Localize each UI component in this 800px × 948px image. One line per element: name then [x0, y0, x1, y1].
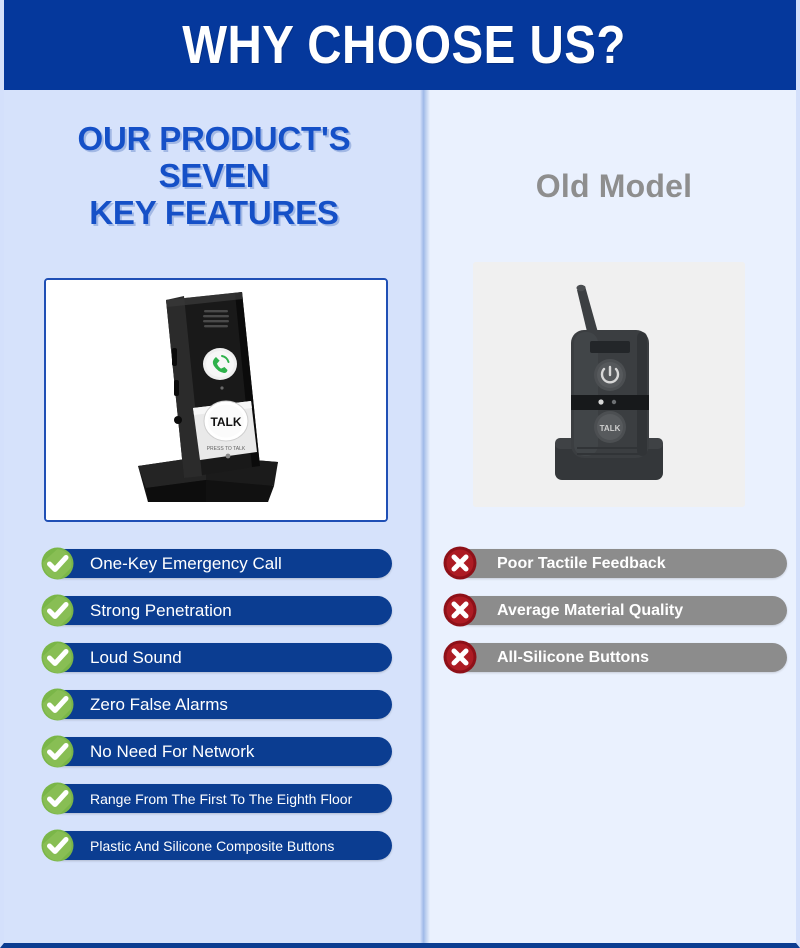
left-panel-heading: OUR PRODUCT'S SEVEN KEY FEATURES [4, 120, 424, 231]
handset-body: TALK [571, 330, 649, 458]
feature-label: Plastic And Silicone Composite Buttons [90, 839, 334, 853]
svg-text:TALK: TALK [600, 424, 621, 433]
cross-circle-icon [440, 590, 480, 630]
check-circle-icon [38, 826, 77, 865]
feature-row[interactable]: Range From The First To The Eighth Floor [4, 780, 424, 827]
drawback-pill[interactable]: Poor Tactile Feedback [451, 549, 787, 578]
feature-label: One-Key Emergency Call [90, 555, 282, 572]
feature-row[interactable]: Loud Sound [4, 639, 424, 686]
feature-pill[interactable]: Range From The First To The Eighth Floor [48, 784, 392, 813]
panel-divider [420, 90, 430, 943]
talk-button: TALK [594, 411, 626, 443]
comparison-panels: OUR PRODUCT'S SEVEN KEY FEATURES [4, 90, 800, 943]
drawback-list: Poor Tactile Feedback Average Material Q… [424, 545, 800, 686]
drawback-row[interactable]: Average Material Quality [424, 592, 800, 639]
feature-label: Strong Penetration [90, 602, 232, 619]
feature-row[interactable]: Strong Penetration [4, 592, 424, 639]
feature-label: Zero False Alarms [90, 696, 228, 713]
feature-row[interactable]: One-Key Emergency Call [4, 545, 424, 592]
drawback-label: Poor Tactile Feedback [497, 556, 666, 572]
header-banner: WHY CHOOSE US? [4, 0, 800, 90]
left-heading-line-2: SEVEN [4, 157, 424, 194]
drawback-row[interactable]: Poor Tactile Feedback [424, 545, 800, 592]
drawback-pill[interactable]: All-Silicone Buttons [451, 643, 787, 672]
feature-pill[interactable]: Strong Penetration [48, 596, 392, 625]
feature-pill[interactable]: One-Key Emergency Call [48, 549, 392, 578]
left-heading-line-3: KEY FEATURES [4, 194, 424, 231]
page-title: WHY CHOOSE US? [182, 14, 626, 76]
left-heading-line-1: OUR PRODUCT'S [4, 120, 424, 157]
emergency-call-button [203, 348, 237, 380]
svg-text:TALK: TALK [210, 415, 241, 429]
cross-circle-icon [440, 637, 480, 677]
new-model-product-image: TALK PRESS TO TALK [44, 278, 388, 522]
right-panel-heading: Old Model [424, 168, 800, 205]
talk-button: TALK [204, 401, 248, 441]
left-panel-our-product: OUR PRODUCT'S SEVEN KEY FEATURES [4, 90, 424, 943]
feature-row[interactable]: No Need For Network [4, 733, 424, 780]
feature-label: Range From The First To The Eighth Floor [90, 792, 352, 806]
feature-row[interactable]: Plastic And Silicone Composite Buttons [4, 827, 424, 874]
check-circle-icon [38, 685, 77, 724]
feature-pill[interactable]: Zero False Alarms [48, 690, 392, 719]
svg-text:PRESS TO TALK: PRESS TO TALK [207, 446, 246, 452]
drawback-label: All-Silicone Buttons [497, 650, 649, 666]
feature-row[interactable]: Zero False Alarms [4, 686, 424, 733]
check-circle-icon [38, 591, 77, 630]
feature-pill[interactable]: Loud Sound [48, 643, 392, 672]
check-circle-icon [38, 732, 77, 771]
drawback-pill[interactable]: Average Material Quality [451, 596, 787, 625]
old-model-product-image: TALK [473, 262, 745, 507]
feature-label: Loud Sound [90, 649, 182, 666]
right-panel-old-model: Old Model [424, 90, 800, 943]
cross-circle-icon [440, 543, 480, 583]
feature-list: One-Key Emergency Call Strong Penetratio… [4, 545, 424, 874]
feature-label: No Need For Network [90, 743, 254, 760]
feature-pill[interactable]: No Need For Network [48, 737, 392, 766]
drawback-label: Average Material Quality [497, 603, 683, 619]
check-circle-icon [38, 779, 77, 818]
feature-pill[interactable]: Plastic And Silicone Composite Buttons [48, 831, 392, 860]
check-circle-icon [38, 638, 77, 677]
drawback-row[interactable]: All-Silicone Buttons [424, 639, 800, 686]
check-circle-icon [38, 544, 77, 583]
infographic-page: WHY CHOOSE US? OUR PRODUCT'S SEVEN KEY F… [0, 0, 800, 948]
power-button [594, 359, 626, 391]
